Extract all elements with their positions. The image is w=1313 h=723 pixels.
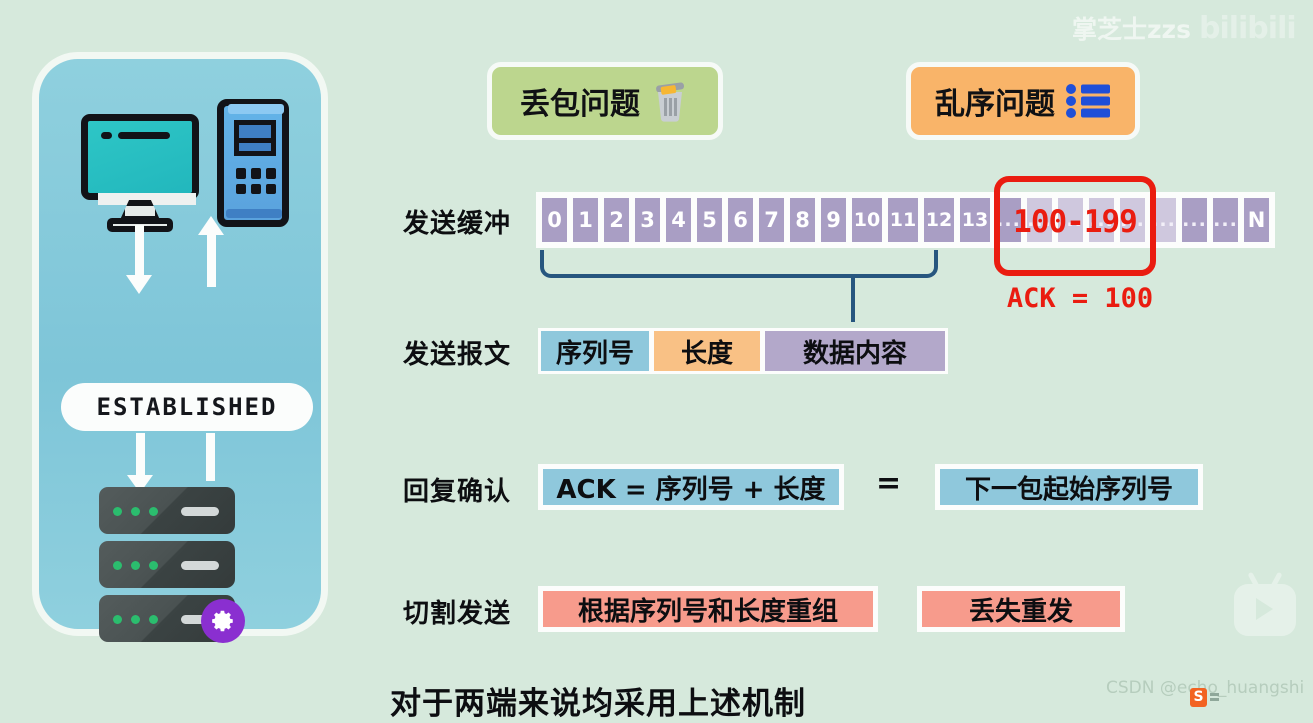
- tower-foot: [226, 209, 282, 218]
- trash-icon: [650, 80, 690, 122]
- illustration-card: ESTABLISHED: [32, 52, 328, 636]
- buffer-cell[interactable]: 8: [790, 198, 815, 242]
- buffer-cell[interactable]: 10: [852, 198, 882, 242]
- topic-pill-label: 丢包问题: [520, 79, 640, 123]
- segment-payload[interactable]: 数据内容: [765, 331, 945, 371]
- ime-menu-icon[interactable]: [1210, 693, 1219, 701]
- buffer-cell[interactable]: 5: [697, 198, 722, 242]
- arrow-up-icon-top: [207, 235, 216, 287]
- tower-button-grid: [236, 168, 276, 194]
- buffer-cell[interactable]: 11: [888, 198, 918, 242]
- topic-pill-out-of-order[interactable]: 乱序问题: [906, 62, 1140, 140]
- row-label-ack-reply: 回复确认: [403, 471, 511, 508]
- ack-formula-box[interactable]: ACK = 序列号 + 长度: [538, 464, 844, 510]
- sent-range-bracket-stem: [851, 276, 855, 322]
- ack-value-label: ACK = 100: [1000, 283, 1160, 314]
- buffer-cell[interactable]: 6: [728, 198, 753, 242]
- tower-top: [228, 104, 284, 114]
- sent-range-bracket: [540, 250, 938, 278]
- sogou-ime-indicator[interactable]: S: [1190, 686, 1224, 708]
- monitor-screen: [81, 114, 199, 200]
- screenshot-canvas: ESTABLISHED 丢包: [0, 0, 1313, 708]
- topic-pill-label: 乱序问题: [935, 79, 1055, 123]
- buffer-cell[interactable]: 9: [821, 198, 846, 242]
- ime-logo: S: [1190, 688, 1207, 707]
- buffer-cell[interactable]: ...: [1151, 198, 1176, 242]
- buffer-cell[interactable]: 2: [604, 198, 629, 242]
- row-label-send-buffer: 发送缓冲: [403, 203, 511, 240]
- topic-pill-packet-loss[interactable]: 丢包问题: [487, 62, 723, 140]
- bottom-note: 对于两端来说均采用上述机制: [390, 678, 806, 723]
- row-label-send-segment: 发送报文: [403, 334, 511, 371]
- row-label-split-send: 切割发送: [403, 593, 511, 630]
- arrow-up-line-bottom: [206, 433, 215, 481]
- bilibili-logo: bilibili: [1199, 11, 1296, 46]
- uploader-name: 掌芝士zzs: [1072, 10, 1191, 46]
- segment-length[interactable]: 长度: [654, 331, 760, 371]
- segment-sequence-number[interactable]: 序列号: [541, 331, 649, 371]
- desktop-tower-icon: [217, 99, 289, 227]
- ack-range-label: 100-199: [1000, 200, 1150, 244]
- equals-sign: =: [876, 466, 901, 501]
- ack-result-box[interactable]: 下一包起始序列号: [935, 464, 1203, 510]
- server-rack-icon: [99, 487, 235, 647]
- buffer-cell[interactable]: 3: [635, 198, 660, 242]
- buffer-cell[interactable]: 12: [924, 198, 954, 242]
- connection-state-badge: ESTABLISHED: [61, 383, 313, 431]
- uploader-watermark: 掌芝士zzs bilibili: [1072, 10, 1296, 46]
- bilibili-tv-icon: [1234, 584, 1296, 636]
- server-unit: [99, 541, 235, 588]
- buffer-cell[interactable]: N: [1244, 198, 1269, 242]
- send-buffer-track[interactable]: 012345678910111213......................…: [536, 192, 1275, 248]
- buffer-cell[interactable]: ...: [1182, 198, 1207, 242]
- server-unit: [99, 487, 235, 534]
- reassembly-box[interactable]: 根据序列号和长度重组: [538, 586, 878, 632]
- arrow-down-icon-bottom: [136, 433, 145, 477]
- tower-panel: [234, 120, 276, 156]
- buffer-cell[interactable]: 0: [542, 198, 567, 242]
- monitor-icon: [81, 114, 199, 218]
- buffer-cell[interactable]: 13: [960, 198, 990, 242]
- segment-structure: 序列号 长度 数据内容: [538, 328, 948, 374]
- buffer-cell[interactable]: 1: [573, 198, 598, 242]
- retransmit-box[interactable]: 丢失重发: [917, 586, 1125, 632]
- list-icon: [1065, 83, 1111, 119]
- arrow-down-icon-top: [135, 225, 144, 277]
- monitor-screen-bar: [118, 132, 170, 139]
- buffer-cell[interactable]: 4: [666, 198, 691, 242]
- buffer-cell[interactable]: ...: [1213, 198, 1238, 242]
- gear-icon: [201, 599, 245, 643]
- buffer-cell[interactable]: 7: [759, 198, 784, 242]
- monitor-screen-dot: [101, 132, 112, 139]
